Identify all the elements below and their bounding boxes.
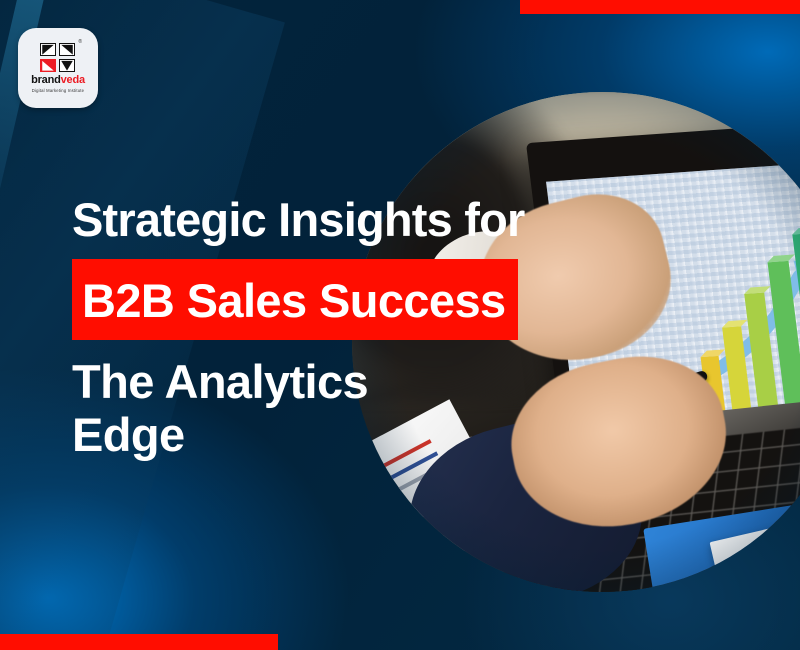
logo-wordmark: brandveda bbox=[31, 75, 85, 86]
headline-highlighted-line: B2B Sales Success bbox=[72, 259, 518, 340]
bottom-left-red-bar bbox=[0, 634, 278, 650]
logo-word-veda: veda bbox=[61, 74, 85, 86]
logo-word-brand: brand bbox=[31, 74, 61, 86]
headline-line-3: The Analytics Edge bbox=[72, 356, 372, 461]
headline-line-1: Strategic Insights for bbox=[72, 196, 542, 243]
marketing-banner: ® brandveda Digital Marketing Institute … bbox=[0, 0, 800, 650]
logo-tagline: Digital Marketing Institute bbox=[32, 89, 84, 93]
top-right-red-bar bbox=[520, 0, 800, 14]
registered-trademark-icon: ® bbox=[78, 39, 82, 45]
headline-block: Strategic Insights for B2B Sales Success… bbox=[72, 196, 542, 461]
brandveda-logo[interactable]: ® brandveda Digital Marketing Institute bbox=[18, 28, 98, 108]
brandveda-grid-arrows-logo-icon: ® bbox=[40, 43, 76, 73]
